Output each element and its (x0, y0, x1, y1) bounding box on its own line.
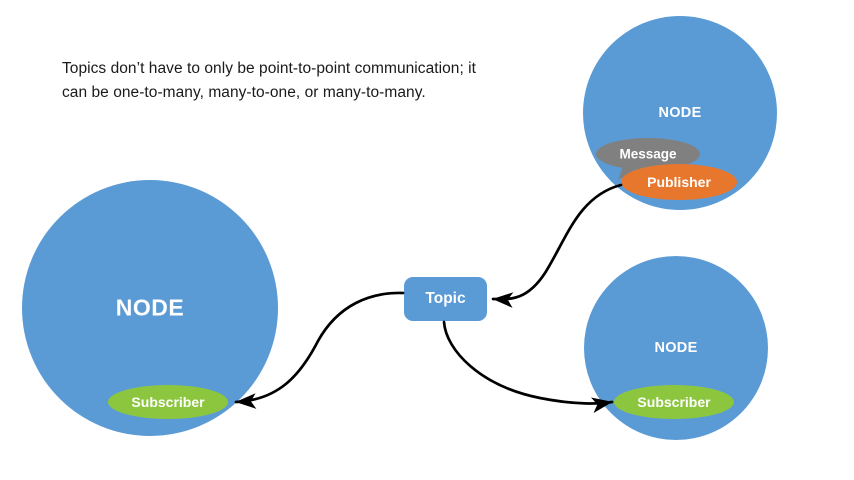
arrow-topic-to-subscriber-left (236, 293, 403, 402)
arrow-publisher-to-topic (493, 185, 621, 299)
arrows-layer (0, 0, 854, 480)
arrow-topic-to-subscriber-bottom-right (444, 322, 612, 403)
diagram-canvas: Topics don’t have to only be point-to-po… (0, 0, 854, 480)
